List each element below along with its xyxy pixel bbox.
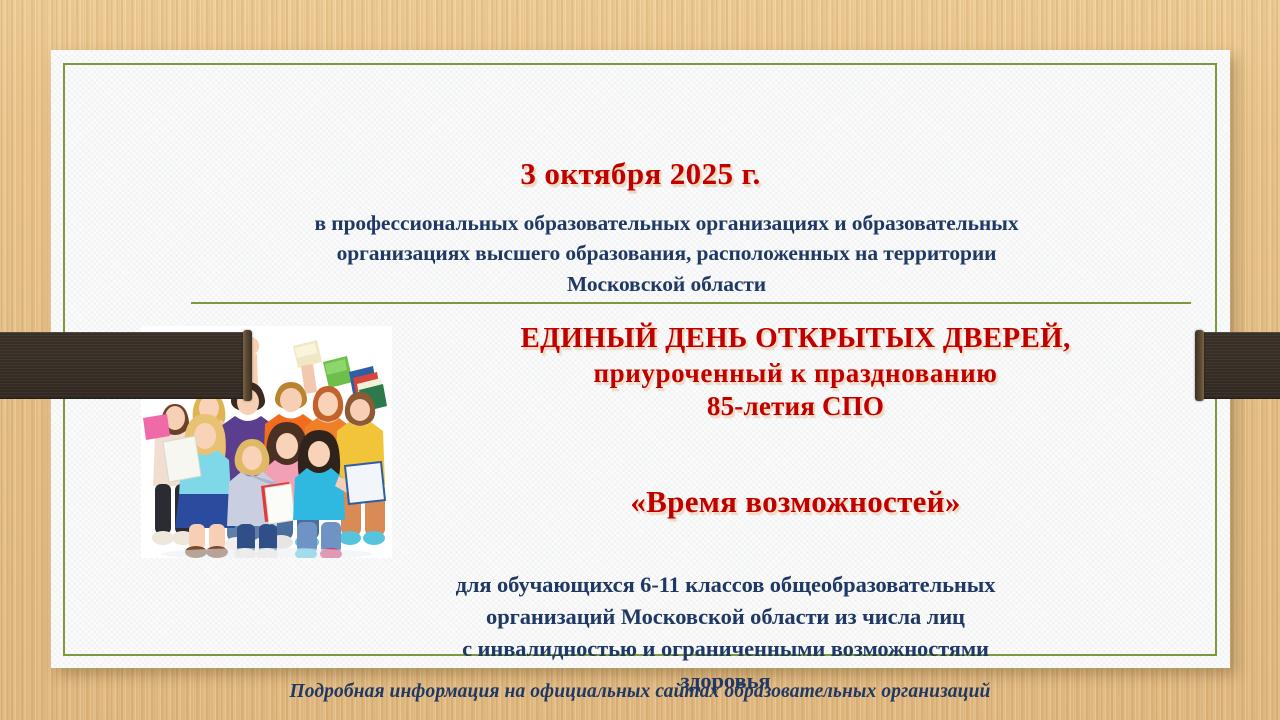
subtitle-line-1: в профессиональных образовательных орган… — [211, 208, 1122, 238]
event-title-line-1: ЕДИНЫЙ ДЕНЬ ОТКРЫТЫХ ДВЕРЕЙ, — [401, 324, 1190, 353]
subtitle-line-3: Московской области — [211, 269, 1122, 299]
footer-note: Подробная информация на официальных сайт… — [0, 681, 1280, 703]
poster-slide: 3 октября 2025 г. в профессиональных обр… — [0, 0, 1280, 720]
ribbon-bar-right — [1200, 332, 1280, 399]
ribbon-bar-left — [0, 332, 248, 399]
ribbon-cap-right-icon — [1195, 330, 1204, 401]
event-slogan: «Время возможностей» — [401, 484, 1190, 520]
header-divider — [191, 302, 1191, 304]
event-title: ЕДИНЫЙ ДЕНЬ ОТКРЫТЫХ ДВЕРЕЙ, приуроченны… — [401, 324, 1190, 420]
event-date: 3 октября 2025 г. — [51, 156, 1230, 192]
event-title-line-3: 85-летия СПО — [401, 393, 1190, 420]
event-subtitle: в профессиональных образовательных орган… — [211, 208, 1122, 299]
subtitle-line-2: организациях высшего образования, распол… — [211, 238, 1122, 268]
audience-line-1: для обучающихся 6-11 классов общеобразов… — [351, 569, 1100, 601]
ribbon-cap-left-icon — [243, 330, 252, 401]
event-title-line-2: приуроченный к празднованию — [401, 360, 1190, 387]
audience-line-2: организаций Московской области из числа … — [351, 601, 1100, 633]
audience-line-3: с инвалидностью и ограниченными возможно… — [351, 633, 1100, 665]
event-audience: для обучающихся 6-11 классов общеобразов… — [351, 569, 1100, 697]
